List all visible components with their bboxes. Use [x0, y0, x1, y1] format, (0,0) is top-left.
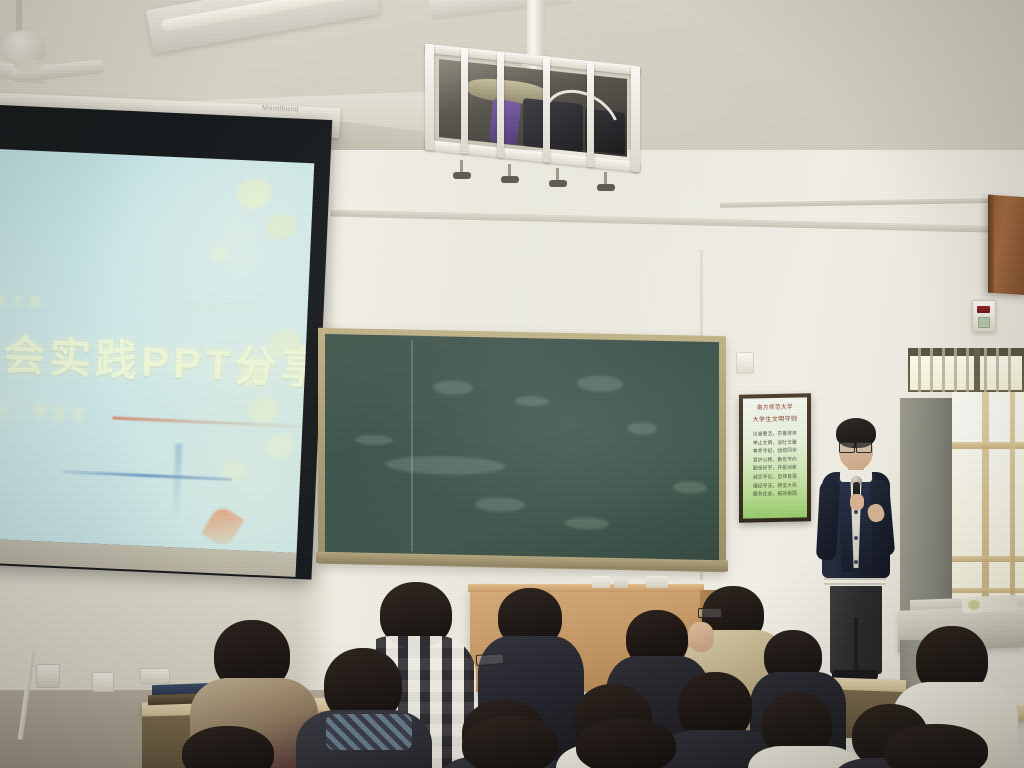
- student-scarf: [326, 714, 412, 750]
- lectern-item: [614, 578, 628, 588]
- presenter-glasses-bridge: [852, 446, 857, 448]
- slide-accent-arrow: [201, 504, 244, 549]
- chalk-smudge: [355, 435, 393, 446]
- wall-poster: 南方师范大学 大学生文明守则 仪容整洁，衣着得体 举止文明，谈吐文雅 尊师守纪，…: [743, 397, 807, 518]
- window-security-bar: [966, 348, 969, 392]
- cage-bar-right: [631, 65, 640, 172]
- projected-slide: 漫漫之路 Show Time 社会实践PPT分享 分享人：李佳宝: [0, 149, 314, 553]
- slide-subtitle-left: 漫漫之路: [0, 290, 306, 322]
- student-hand-on-chin: [688, 622, 714, 652]
- projection-screen: 漫漫之路 Show Time 社会实践PPT分享 分享人：李佳宝: [0, 104, 332, 579]
- presenter-hand-left: [850, 494, 864, 510]
- slide-accent-vertical: [172, 443, 182, 517]
- ceiling-fan-rod: [16, 0, 22, 34]
- wall-control-panel[interactable]: [972, 300, 996, 332]
- control-panel-button[interactable]: [978, 317, 990, 328]
- wall-speaker-cabinet: [988, 195, 1024, 296]
- poster-rule: 服务社会，报效祖国: [749, 490, 801, 500]
- poster-title: 南方师范大学: [743, 403, 807, 412]
- slide-bokeh-2: [267, 213, 296, 240]
- chalk-smudge: [627, 422, 657, 435]
- slide-bokeh-1: [236, 178, 271, 210]
- window-security-bar: [942, 348, 945, 392]
- lectern-top: [468, 584, 704, 592]
- light-switch-plate[interactable]: [736, 352, 754, 374]
- window-transom-mullion: [974, 348, 980, 392]
- window-security-bar: [1008, 348, 1011, 392]
- chalk-smudge: [673, 481, 707, 494]
- ceiling-fan-cap: [14, 58, 42, 72]
- window-security-bar: [930, 348, 933, 392]
- presenter-glasses-right-lens: [856, 442, 872, 453]
- projector-cage: [425, 44, 640, 177]
- slide-accent-line-blue: [62, 470, 232, 481]
- chalk-smudge: [433, 380, 473, 395]
- cage-foot-2: [501, 176, 519, 183]
- wall-poster-frame: 南方师范大学 大学生文明守则 仪容整洁，衣着得体 举止文明，谈吐文雅 尊师守纪，…: [739, 393, 811, 523]
- cage-foot-1: [453, 172, 471, 179]
- speaker-edge: [988, 195, 994, 293]
- presenter-jacket-button: [854, 560, 858, 564]
- projector-internal-purple-part: [489, 98, 521, 147]
- slide-bokeh-6: [267, 434, 294, 459]
- slide-title: 社会实践PPT分享: [0, 319, 314, 396]
- poster-rule-list: 仪容整洁，衣着得体 举止文明，谈吐文雅 尊师守纪，团结同学 爱护公物，勤俭节约 …: [749, 429, 801, 499]
- slide-bokeh-8: [210, 245, 229, 264]
- slide-byline: 分享人：李佳宝: [0, 397, 287, 433]
- presenter: [806, 418, 904, 683]
- student-head: [884, 724, 988, 768]
- cage-bar-v4: [587, 61, 594, 168]
- cage-bar-v3: [543, 56, 550, 163]
- counter-green-object: [968, 600, 980, 610]
- blackboard-frame: [318, 328, 726, 573]
- cage-foot-4: [597, 184, 615, 191]
- window-security-bar: [918, 348, 921, 392]
- chalk-smudge: [565, 517, 609, 530]
- chalk-text-residue: [385, 455, 505, 476]
- chalk-smudge: [577, 375, 623, 392]
- presenter-leg-gap: [854, 618, 858, 676]
- chalk-smudge: [515, 396, 549, 407]
- classroom-photo: Mondbond 漫漫之路 Show Time 社会实践PPT分享 分享人：李佳…: [0, 0, 1024, 768]
- blackboard-panel-divider: [411, 340, 413, 552]
- wall-outlet-2[interactable]: [140, 668, 170, 684]
- cage-bar-left: [425, 44, 434, 151]
- window-security-bar: [984, 348, 987, 392]
- cage-bar-v2: [497, 51, 504, 158]
- presenter-jacket-button: [854, 536, 858, 540]
- cage-bar-v1: [461, 47, 468, 154]
- student-glasses: [476, 653, 505, 666]
- student-head: [462, 716, 558, 768]
- student-head: [576, 718, 676, 768]
- control-panel-led: [977, 306, 990, 313]
- wall-outlet-1[interactable]: [92, 672, 114, 692]
- lectern-item: [646, 576, 668, 588]
- student-glasses: [698, 608, 722, 618]
- window-security-bar: [954, 348, 957, 392]
- presenter-arm-left: [816, 480, 840, 561]
- presenter-jacket-button: [854, 510, 858, 514]
- blackboard-surface[interactable]: [325, 334, 719, 562]
- poster-subtitle: 大学生文明守则: [743, 413, 807, 423]
- chalk-smudge: [475, 497, 525, 512]
- window-transom: [908, 348, 1024, 392]
- lectern-item: [592, 576, 610, 588]
- window-security-bar: [996, 348, 999, 392]
- wall-junction-box: [36, 664, 60, 688]
- cage-foot-3: [549, 180, 567, 187]
